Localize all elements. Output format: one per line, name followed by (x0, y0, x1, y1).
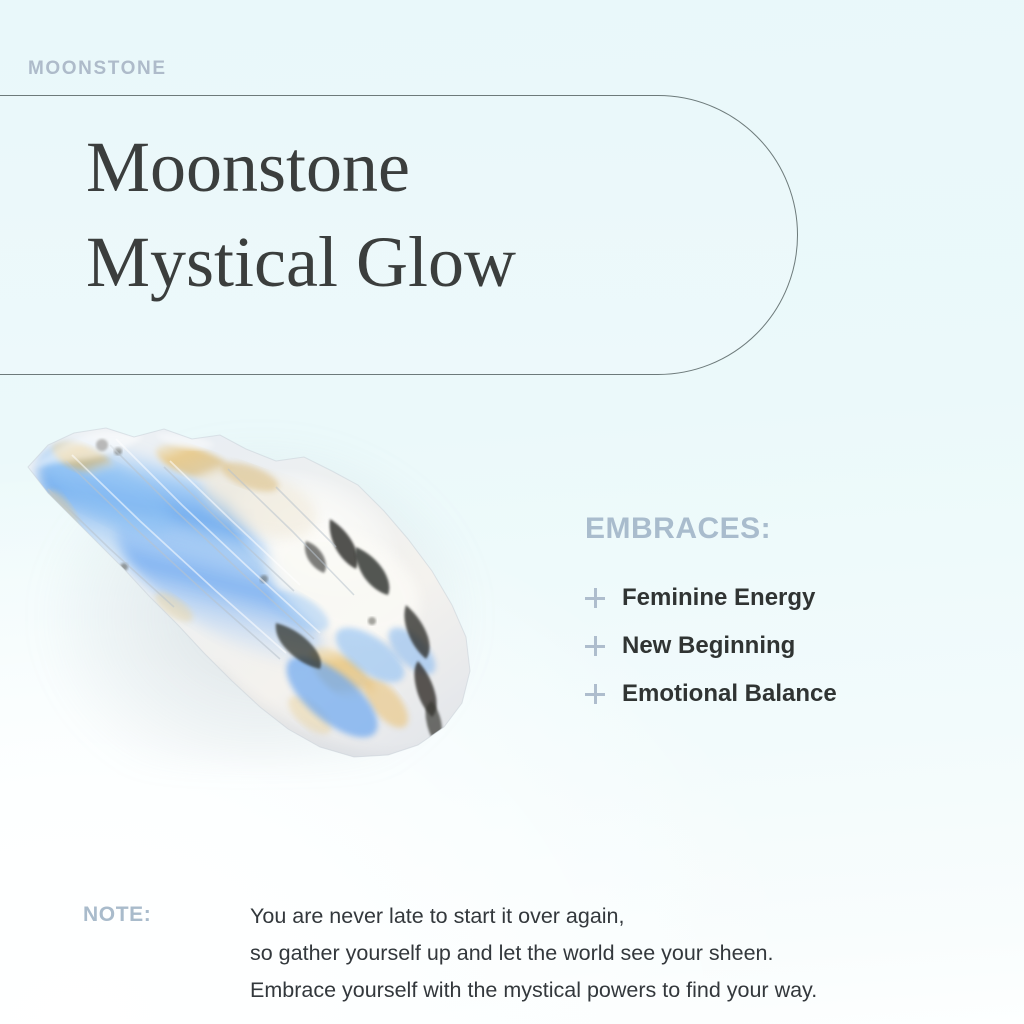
embraces-title: EMBRACES: (585, 512, 1005, 546)
embrace-label: New Beginning (622, 632, 795, 660)
note-label: NOTE: (83, 903, 151, 927)
plus-icon (585, 588, 605, 608)
hero-card: Moonstone Mystical Glow (0, 95, 798, 375)
page-title: Moonstone Mystical Glow (86, 120, 516, 310)
eyebrow-label: MOONSTONE (28, 58, 167, 80)
plus-icon (585, 684, 605, 704)
embraces-section: EMBRACES: Feminine Energy New Beginning … (585, 512, 1005, 728)
note-text: You are never late to start it over agai… (250, 898, 817, 1009)
list-item: New Beginning (585, 632, 1005, 660)
moonstone-image (0, 395, 520, 795)
embrace-label: Feminine Energy (622, 584, 815, 612)
plus-icon (585, 636, 605, 656)
list-item: Emotional Balance (585, 680, 1005, 708)
embrace-label: Emotional Balance (622, 680, 837, 708)
moonstone-crystal (14, 415, 486, 770)
list-item: Feminine Energy (585, 584, 1005, 612)
